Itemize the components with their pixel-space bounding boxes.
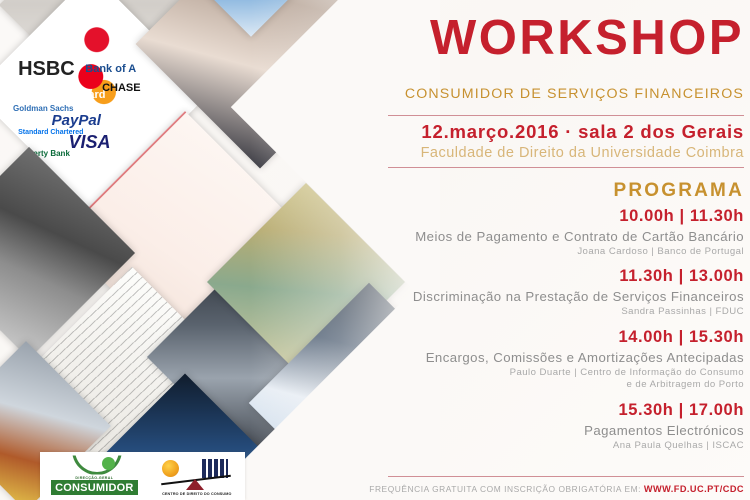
sponsor-logo-bar: DIRECÇÃO-GERAL CONSUMIDOR CENTRO DE DIRE… bbox=[40, 452, 245, 500]
bank-logo-standard-chartered: Standard Chartered bbox=[18, 129, 83, 136]
program-list: 10.00h | 11.30h Meios de Pagamento e Con… bbox=[366, 206, 744, 460]
logo-cdc-line1: CENTRO DE DIREITO DO CONSUMO bbox=[160, 492, 234, 496]
consumidor-swoosh-icon bbox=[72, 458, 116, 475]
poster-root: HSBC Bank of A MasterCard CHASE PayPal V… bbox=[0, 0, 750, 500]
program-item-time: 10.00h | 11.30h bbox=[366, 206, 744, 227]
text-panel: WORKSHOP CONSUMIDOR DE SERVIÇOS FINANCEI… bbox=[366, 0, 750, 500]
program-item: 15.30h | 17.00h Pagamentos Electrónicos … bbox=[366, 400, 744, 452]
program-item-time: 15.30h | 17.00h bbox=[366, 400, 744, 421]
poster-title: WORKSHOP bbox=[366, 14, 750, 63]
logo-dgc-line2: CONSUMIDOR bbox=[51, 480, 137, 495]
event-venue: Faculdade de Direito da Universidade Coi… bbox=[366, 145, 750, 161]
program-item-speaker: Paulo Duarte | Centro de Informação do C… bbox=[366, 367, 744, 392]
program-item: 10.00h | 11.30h Meios de Pagamento e Con… bbox=[366, 206, 744, 258]
program-item-title: Encargos, Comissões e Amortizações Antec… bbox=[366, 349, 744, 366]
cdc-sun-icon bbox=[162, 460, 179, 477]
program-item-time: 14.00h | 15.30h bbox=[366, 327, 744, 348]
divider-middle bbox=[388, 167, 744, 168]
program-item-title: Meios de Pagamento e Contrato de Cartão … bbox=[366, 228, 744, 245]
program-item-speaker: Ana Paula Quelhas | ISCAC bbox=[366, 440, 744, 453]
bank-logo-hsbc: HSBC bbox=[18, 58, 75, 81]
footer-note: FREQUÊNCIA GRATUITA COM INSCRIÇÃO OBRIGA… bbox=[366, 484, 744, 494]
bank-logo-bank-of-america: Bank of A bbox=[85, 63, 136, 75]
registration-url[interactable]: WWW.FD.UC.PT/CDC bbox=[644, 484, 744, 494]
consumidor-dot-icon bbox=[102, 457, 115, 470]
bank-logo-chase: CHASE bbox=[102, 82, 141, 94]
logo-centro-de-direito-do-consumo: CENTRO DE DIREITO DO CONSUMO bbox=[160, 457, 234, 495]
program-item: 14.00h | 15.30h Encargos, Comissões e Am… bbox=[366, 327, 744, 392]
event-date: 12.março.2016 · sala 2 dos Gerais bbox=[366, 121, 750, 143]
program-item-title: Discriminação na Prestação de Serviços F… bbox=[366, 288, 744, 305]
cdc-triangle-icon bbox=[186, 479, 204, 490]
program-item-speaker: Joana Cardoso | Banco de Portugal bbox=[366, 246, 744, 259]
program-item: 11.30h | 13.00h Discriminação na Prestaç… bbox=[366, 266, 744, 318]
divider-top bbox=[388, 115, 744, 116]
program-heading: PROGRAMA bbox=[366, 180, 750, 202]
bank-logo-goldman-sachs: Goldman Sachs bbox=[13, 104, 73, 113]
logo-direcao-geral-do-consumidor: DIRECÇÃO-GERAL CONSUMIDOR bbox=[51, 458, 137, 495]
bank-logo-mastercard: MasterCard bbox=[45, 89, 106, 101]
program-item-title: Pagamentos Electrónicos bbox=[366, 422, 744, 439]
poster-subtitle: CONSUMIDOR DE SERVIÇOS FINANCEIROS bbox=[366, 86, 750, 102]
program-item-speaker: Sandra Passinhas | FDUC bbox=[366, 306, 744, 319]
bank-logo-paypal: PayPal bbox=[52, 112, 101, 129]
divider-bottom bbox=[388, 476, 744, 477]
footer-note-text: FREQUÊNCIA GRATUITA COM INSCRIÇÃO OBRIGA… bbox=[369, 484, 641, 494]
program-item-time: 11.30h | 13.00h bbox=[366, 266, 744, 287]
